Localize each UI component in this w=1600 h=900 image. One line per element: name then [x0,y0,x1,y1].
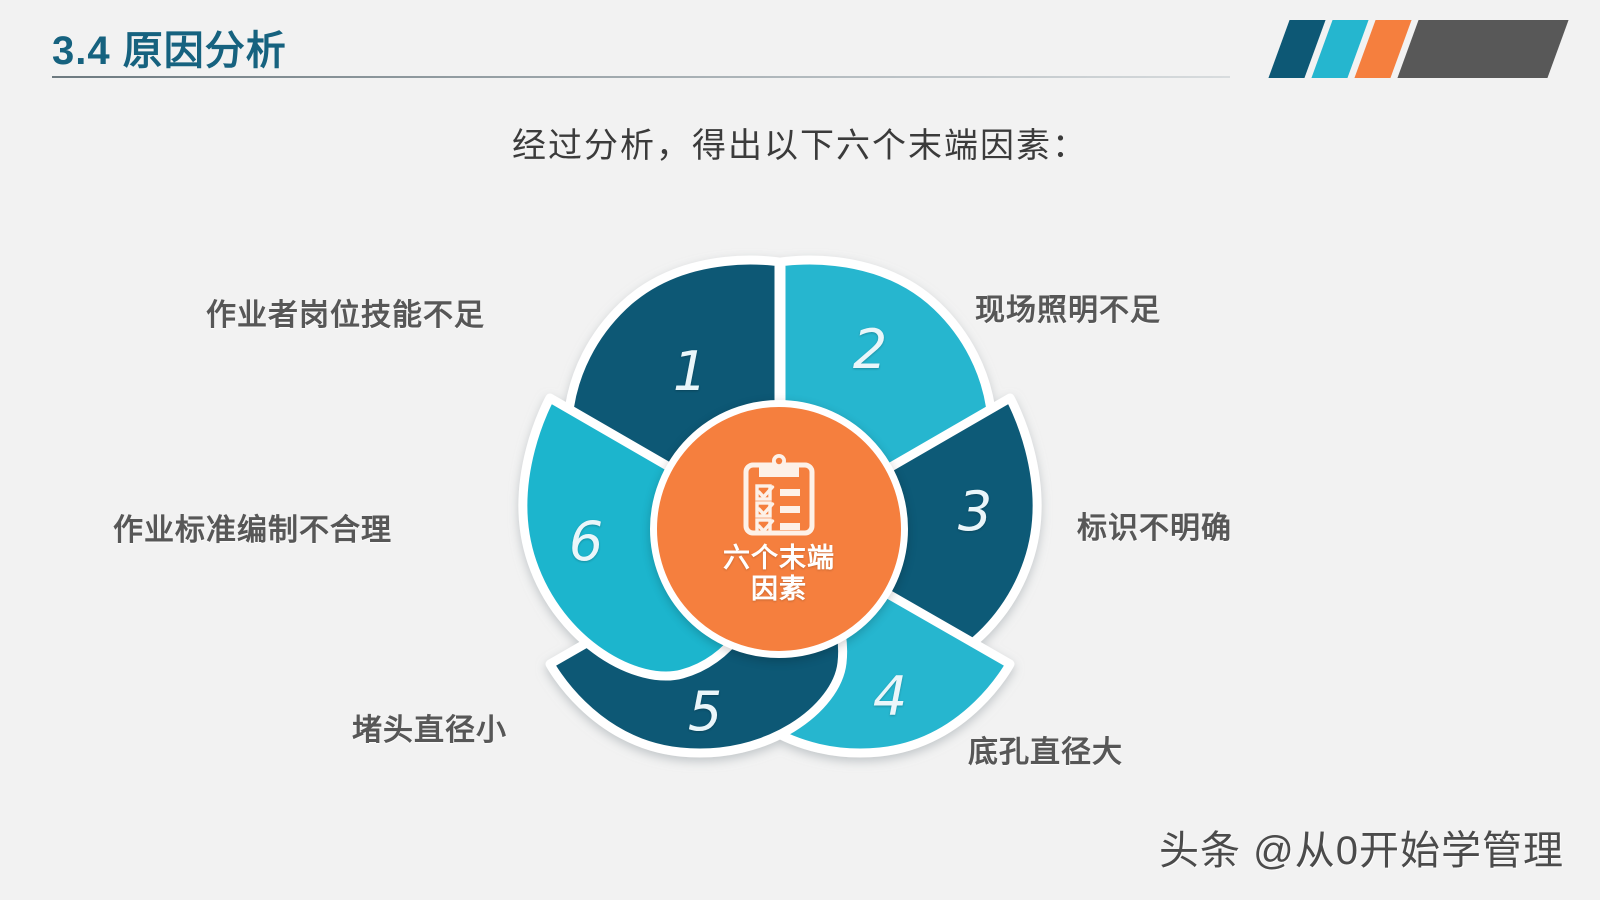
clipboard-checklist-icon [741,453,817,537]
center-hub-label: 六个末端 因素 [723,543,835,605]
factor-label-6: 作业标准编制不合理 [113,505,392,549]
watermark-text: 头条 @从0开始学管理 [1159,818,1564,876]
page-title: 3.4 原因分析 [52,18,287,76]
title-underline-rule [52,76,1230,78]
factor-label-4: 底孔直径大 [968,727,1123,771]
diagram-center-hub[interactable]: 六个末端 因素 [650,400,908,658]
factor-label-2: 现场照明不足 [975,285,1161,329]
center-hub-label-line2: 因素 [723,574,835,605]
ribbon-bar-gray [1397,20,1568,78]
center-hub-label-line1: 六个末端 [723,543,835,574]
factor-label-1: 作业者岗位技能不足 [206,290,485,334]
factor-label-3: 标识不明确 [1077,503,1232,547]
subtitle-text: 经过分析，得出以下六个末端因素： [0,118,1600,167]
slide-header: 3.4 原因分析 [0,0,1600,100]
header-ribbon [1279,20,1558,78]
factor-label-5: 堵头直径小 [352,705,507,749]
